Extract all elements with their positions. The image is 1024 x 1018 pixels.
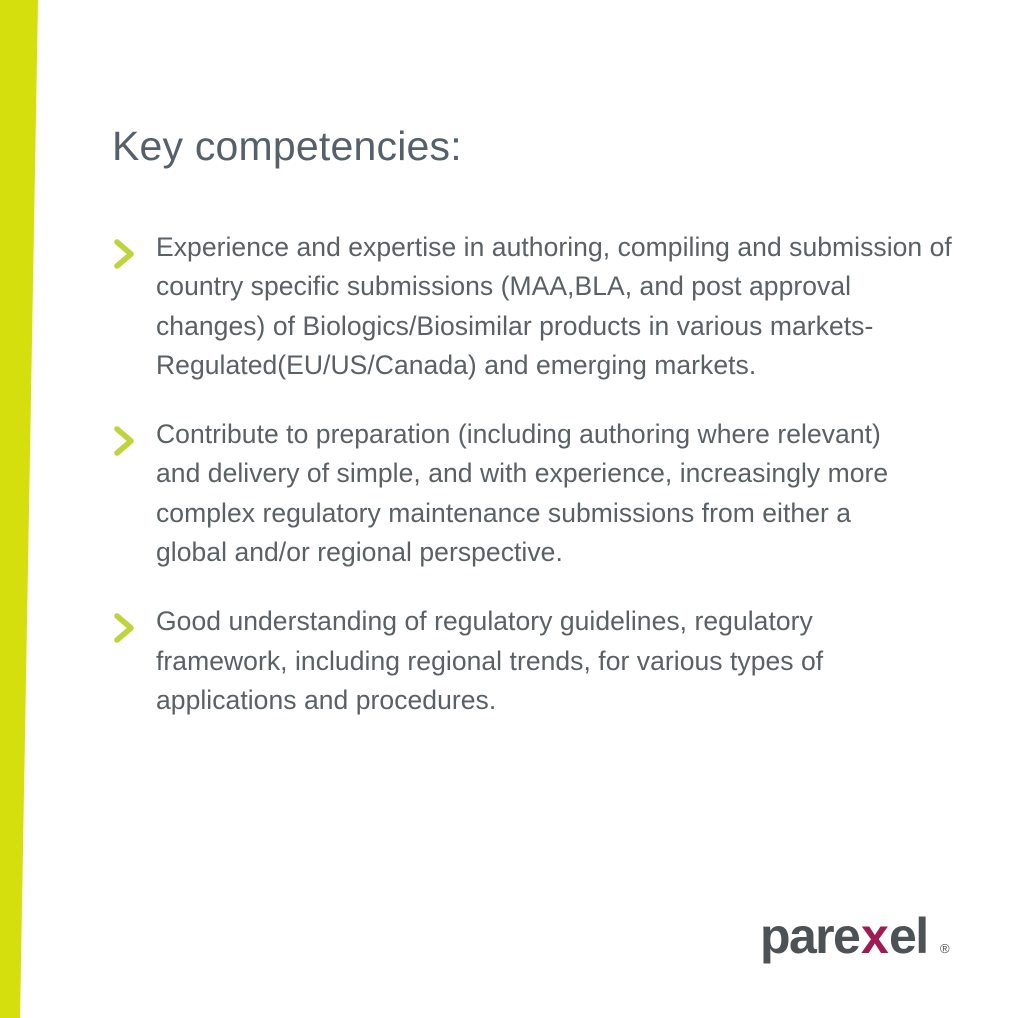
parexel-logo: pare x el ® [760, 910, 972, 966]
page-title: Key competencies: [112, 124, 462, 169]
list-item: Good understanding of regulatory guideli… [112, 602, 942, 720]
chevron-right-icon [112, 239, 138, 269]
chevron-right-icon [112, 613, 138, 643]
list-item: Contribute to preparation (including aut… [112, 415, 942, 572]
logo-trademark-symbol: ® [940, 941, 950, 956]
list-item-label: Experience and expertise in authoring, c… [156, 228, 956, 385]
logo-wordmark-accent: x [861, 910, 889, 964]
slide-content: Key competencies: Experience and experti… [112, 0, 942, 1018]
logo-wordmark-part-2: el [889, 910, 928, 964]
slide: Key competencies: Experience and experti… [0, 0, 1024, 1018]
list-item: Experience and expertise in authoring, c… [112, 228, 942, 385]
competencies-list: Experience and expertise in authoring, c… [112, 228, 942, 750]
logo-wordmark-part-1: pare [760, 910, 860, 964]
chevron-right-icon [112, 426, 138, 456]
list-item-label: Contribute to preparation (including aut… [156, 415, 896, 572]
list-item-label: Good understanding of regulatory guideli… [156, 602, 931, 720]
accent-bar [0, 0, 46, 1018]
